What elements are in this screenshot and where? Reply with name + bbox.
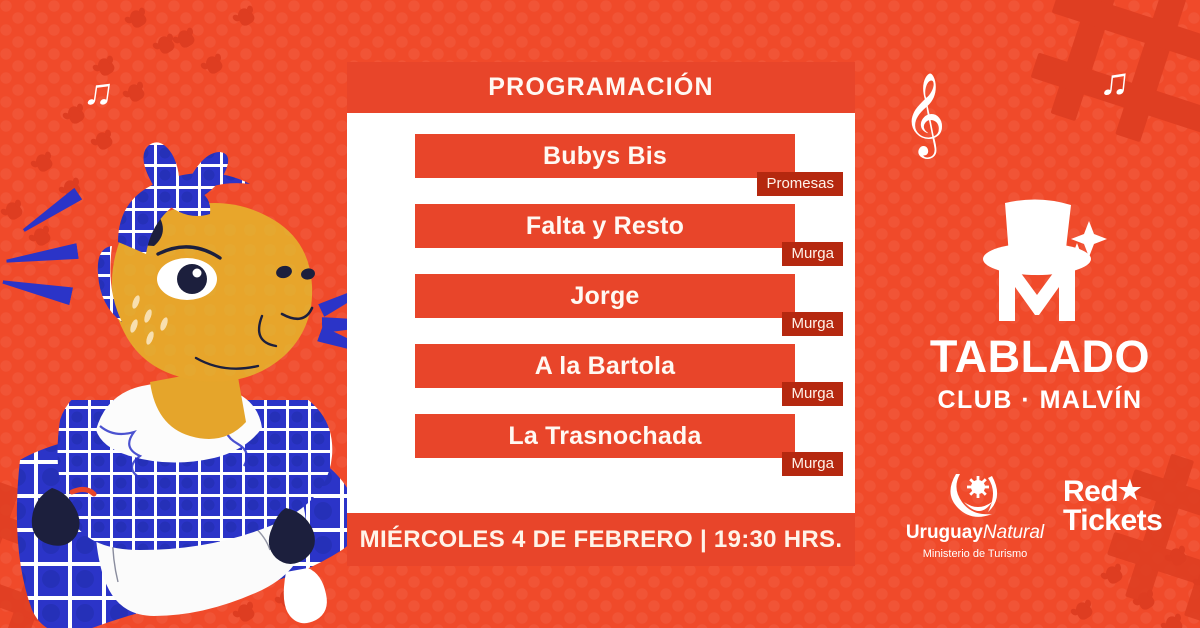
lineup-item-category: Promesas [757, 172, 843, 196]
event-datetime: MIÉRCOLES 4 DE FEBRERO | 19:30 HRS. [360, 526, 843, 554]
lineup-item-category: Murga [782, 242, 843, 266]
panel-footer: MIÉRCOLES 4 DE FEBRERO | 19:30 HRS. [347, 513, 855, 566]
red-tickets-logo[interactable]: Red★ Tickets [1063, 478, 1162, 535]
lineup-item-name: A la Bartola [535, 352, 675, 381]
lineup-item-category: Murga [782, 452, 843, 476]
brand-title: TABLADO [900, 334, 1180, 379]
tickets-word: Tickets [1063, 507, 1162, 536]
lineup-item-name: Bubys Bis [543, 142, 667, 171]
sponsor-logos: UruguayNatural Ministerio de Turismo Red… [905, 472, 1190, 582]
sun-crescent-icon [944, 472, 1006, 518]
lineup-item-category: Murga [782, 382, 843, 406]
panel-title: PROGRAMACIÓN [488, 73, 714, 102]
treble-clef-icon: 𝄞 [903, 78, 946, 150]
lineup-item-name: Falta y Resto [526, 212, 684, 241]
lineup-item-name: Jorge [570, 282, 639, 311]
capybara-shoe [284, 568, 327, 623]
program-panel: PROGRAMACIÓN Bubys Bis Promesas Falta y … [347, 62, 855, 566]
lineup-list: Bubys Bis Promesas Falta y Resto Murga J… [347, 113, 855, 513]
capybara-illustration [0, 120, 400, 628]
lineup-item[interactable]: Bubys Bis Promesas [415, 134, 795, 178]
lineup-item[interactable]: Falta y Resto Murga [415, 204, 795, 248]
star-icon: ★ [1118, 475, 1141, 505]
lineup-item[interactable]: La Trasnochada Murga [415, 414, 795, 458]
beamed-note-icon-topright: ♫ [1098, 61, 1132, 104]
poster-canvas: ♫ ♫ 𝄞 [0, 0, 1200, 628]
ministry-label: Ministerio de Turismo [905, 548, 1045, 560]
natural-word: Natural [983, 522, 1044, 543]
lineup-item-category: Murga [782, 312, 843, 336]
brand-logo: TABLADO CLUB · MALVÍN [900, 195, 1180, 413]
lineup-item[interactable]: A la Bartola Murga [415, 344, 795, 388]
panel-header: PROGRAMACIÓN [347, 62, 855, 113]
uruguay-natural-name: UruguayNatural [905, 522, 1045, 544]
uruguay-natural-logo: UruguayNatural Ministerio de Turismo [905, 472, 1045, 560]
beamed-note-icon: ♫ [81, 70, 116, 114]
uruguay-word: Uruguay [906, 522, 983, 543]
lineup-item[interactable]: Jorge Murga [415, 274, 795, 318]
lineup-item-name: La Trasnochada [508, 422, 701, 451]
top-hat-m-icon [965, 195, 1115, 330]
brand-subtitle: CLUB · MALVÍN [900, 388, 1180, 413]
